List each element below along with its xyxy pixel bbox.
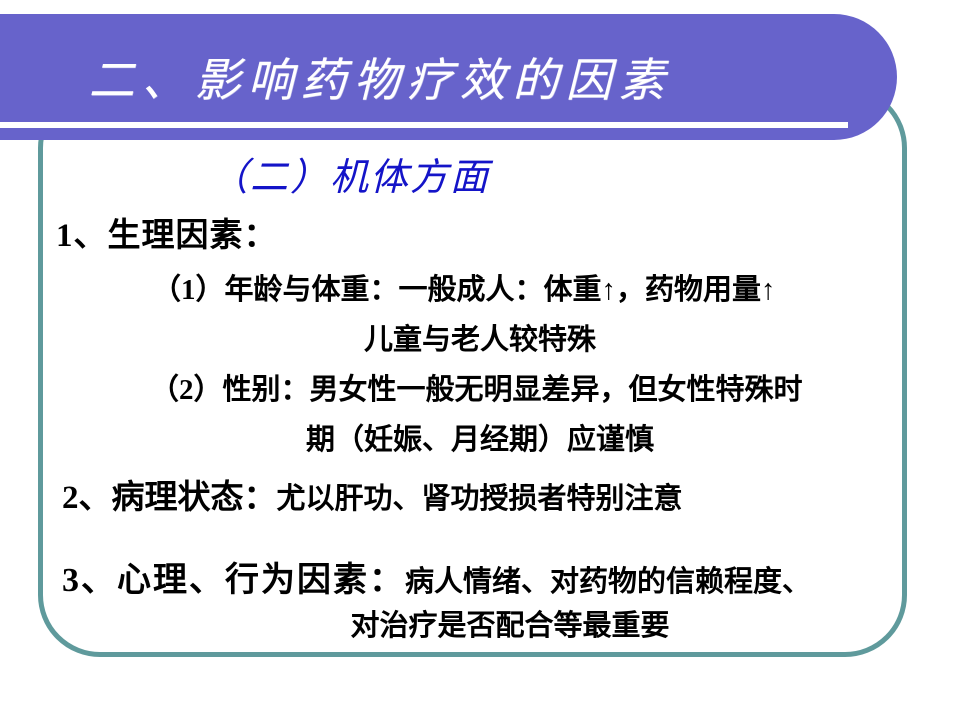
list-item-3-number: 3、 bbox=[62, 562, 117, 599]
list-item-1-sub-2-line-2: 期（妊娠、月经期）应谨慎 bbox=[0, 416, 960, 458]
sub-item-2-marker: （2） bbox=[150, 374, 223, 406]
list-item-3-label: 心理、行为因素： bbox=[117, 562, 405, 599]
header-underline-rule bbox=[0, 122, 848, 128]
list-item-1-sub-2-line-1: （2）性别：男女性一般无明显差异，但女性特殊时 bbox=[150, 366, 803, 408]
list-item-3: 3、心理、行为因素：病人情绪、对药物的信赖程度、 bbox=[62, 552, 811, 601]
list-item-1-label: 生理因素： bbox=[108, 218, 278, 254]
list-item-2-label: 病理状态： bbox=[112, 480, 277, 516]
sub-item-1-marker: （1） bbox=[152, 274, 225, 306]
list-item-3-detail-line-2: 对治疗是否配合等最重要 bbox=[0, 602, 960, 644]
list-item-1-number: 1、 bbox=[56, 218, 108, 254]
presentation-slide: 二、影响药物疗效的因素 （二）机体方面 1、生理因素： （1）年龄与体重：一般成… bbox=[0, 0, 960, 720]
list-item-2: 2、病理状态：尤以肝功、肾功授损者特别注意 bbox=[62, 470, 683, 518]
list-item-2-detail: 尤以肝功、肾功授损者特别注意 bbox=[277, 483, 683, 515]
section-subtitle: （二）机体方面 bbox=[0, 146, 700, 201]
slide-title: 二、影响药物疗效的因素 bbox=[0, 44, 760, 110]
list-item-1-heading: 1、生理因素： bbox=[56, 208, 278, 256]
list-item-3-detail-line-1: 病人情绪、对药物的信赖程度、 bbox=[405, 566, 811, 598]
list-item-1-sub-1-line-2: 儿童与老人较特殊 bbox=[0, 316, 960, 358]
slide-body: （二）机体方面 1、生理因素： （1）年龄与体重：一般成人：体重↑，药物用量↑ … bbox=[0, 140, 960, 680]
list-item-2-number: 2、 bbox=[62, 480, 112, 516]
list-item-1-sub-1-line-1: （1）年龄与体重：一般成人：体重↑，药物用量↑ bbox=[152, 266, 776, 308]
sub-item-1-text: 年龄与体重：一般成人：体重↑，药物用量↑ bbox=[225, 274, 776, 306]
sub-item-2-text: 性别：男女性一般无明显差异，但女性特殊时 bbox=[223, 374, 803, 406]
